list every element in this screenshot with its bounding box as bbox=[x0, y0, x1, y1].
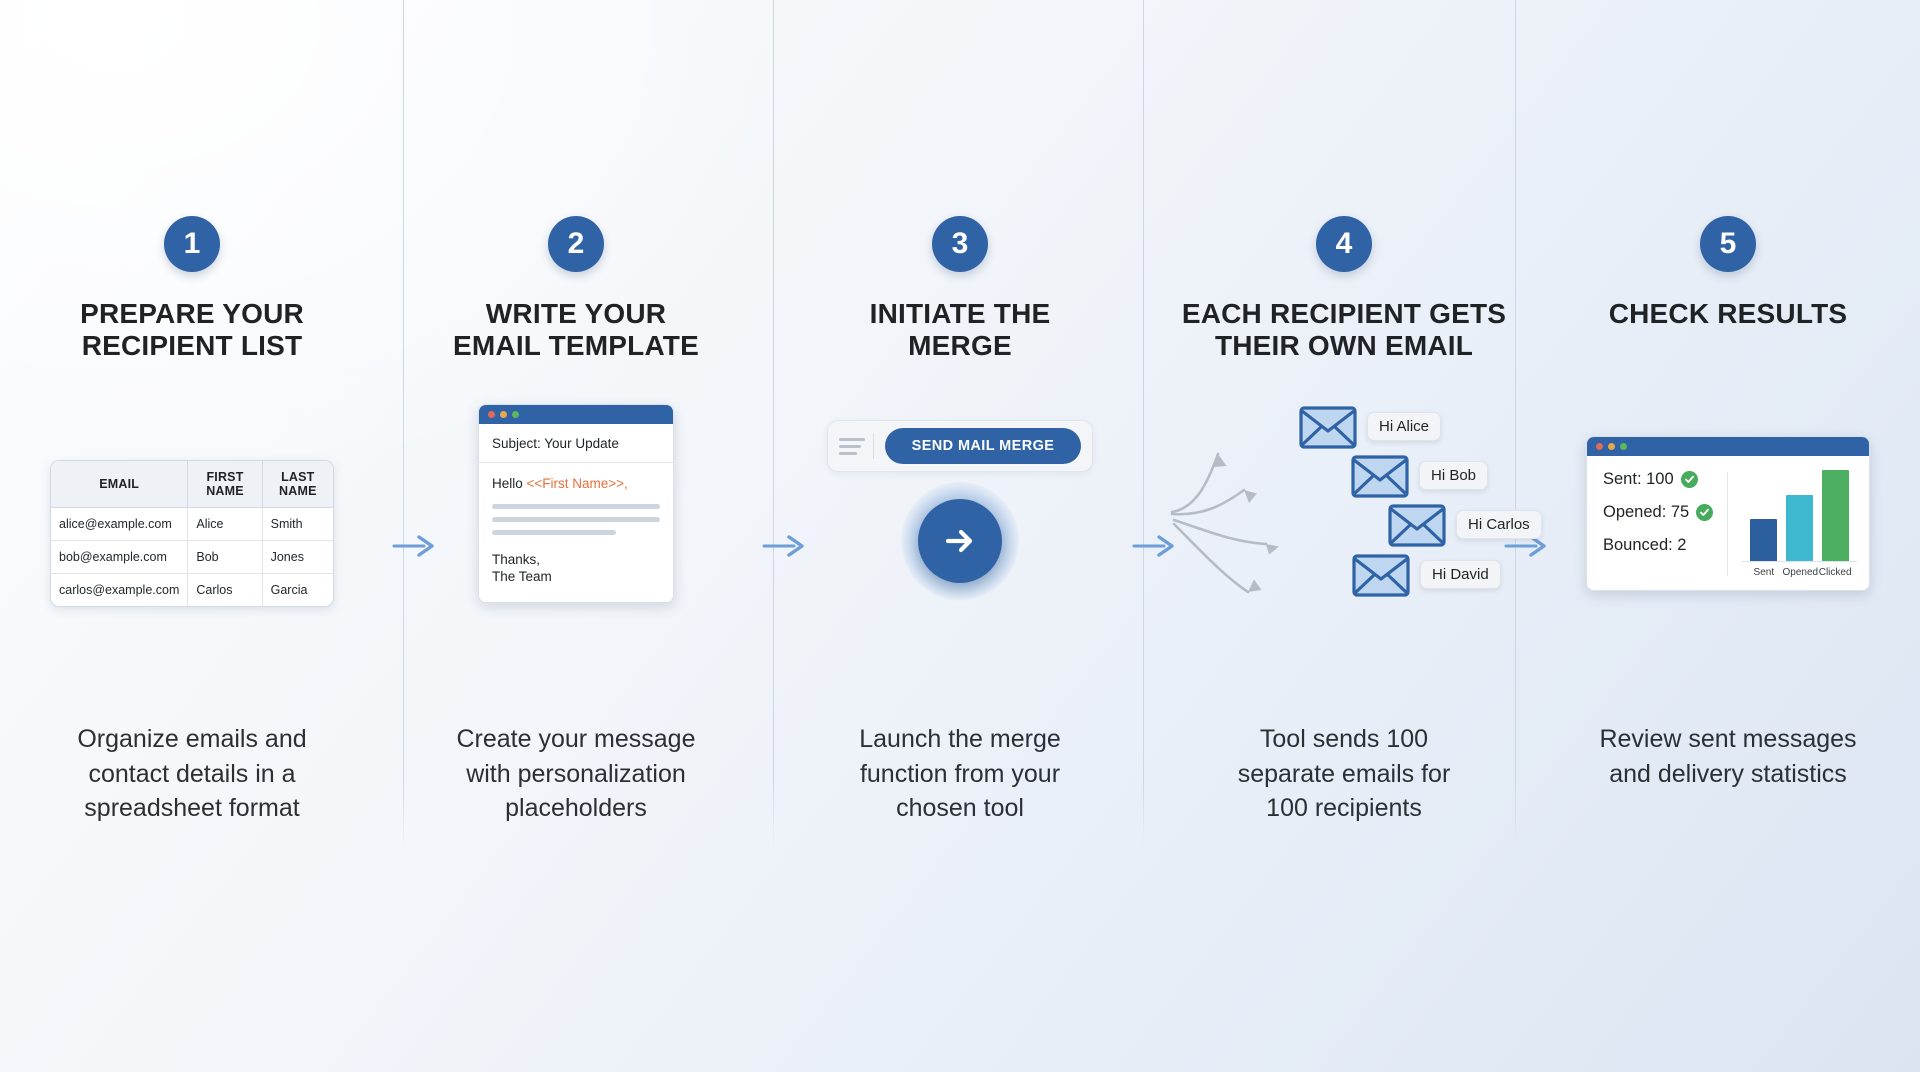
step-5-title-line-1: CHECK RESULTS bbox=[1536, 298, 1920, 330]
close-dot-icon[interactable] bbox=[488, 411, 495, 418]
cell-email: bob@example.com bbox=[51, 541, 188, 574]
stat-bounced-label: Bounced: 2 bbox=[1603, 536, 1686, 555]
step-5-illustration: Sent: 100 Opened: 75 Bounc bbox=[1536, 420, 1920, 670]
email-greeting: Hello <<First Name>>, bbox=[492, 476, 660, 491]
step-4-desc-line-3: 100 recipients bbox=[1152, 791, 1536, 826]
signature-line-2: The Team bbox=[492, 568, 660, 585]
list-icon[interactable] bbox=[839, 438, 867, 455]
recipient-bubble: Hi Bob bbox=[1419, 461, 1488, 490]
step-3-number-badge: 3 bbox=[932, 216, 988, 272]
step-2-write-email-template: 2 WRITE YOUR EMAIL TEMPLATE Subject: You… bbox=[384, 0, 768, 1072]
step-2-title: WRITE YOUR EMAIL TEMPLATE bbox=[384, 298, 768, 363]
maximize-dot-icon[interactable] bbox=[1620, 443, 1627, 450]
step-4-illustration: Hi Alice Hi Bob Hi Carlos bbox=[1152, 408, 1536, 598]
step-3-desc-line-1: Launch the merge bbox=[768, 722, 1152, 757]
chart-x-axis-labels: Sent Opened Clicked bbox=[1742, 562, 1857, 578]
step-2-desc-line-1: Create your message bbox=[384, 722, 768, 757]
email-template-window[interactable]: Subject: Your Update Hello <<First Name>… bbox=[478, 404, 674, 603]
step-3-desc-line-3: chosen tool bbox=[768, 791, 1152, 826]
email-body[interactable]: Hello <<First Name>>, Thanks, The Team bbox=[479, 463, 673, 602]
dashboard-body: Sent: 100 Opened: 75 Bounc bbox=[1587, 456, 1869, 590]
step-3-initiate-merge: 3 INITIATE THE MERGE SEND MAIL MERGE bbox=[768, 0, 1152, 1072]
step-5-number-badge: 5 bbox=[1700, 216, 1756, 272]
signature-line-1: Thanks, bbox=[492, 551, 660, 568]
stat-sent: Sent: 100 bbox=[1603, 470, 1727, 489]
toolbar-separator bbox=[873, 433, 874, 459]
table-row[interactable]: alice@example.com Alice Smith bbox=[51, 508, 333, 541]
cell-email: alice@example.com bbox=[51, 508, 188, 541]
step-5-check-results: 5 CHECK RESULTS Sent: 100 bbox=[1536, 0, 1920, 1072]
fanout-arrows bbox=[1162, 420, 1292, 600]
email-subject-line[interactable]: Subject: Your Update bbox=[479, 424, 673, 463]
step-5-title: CHECK RESULTS bbox=[1536, 298, 1920, 330]
cell-first-name: Alice bbox=[188, 508, 262, 541]
table-row[interactable]: bob@example.com Bob Jones bbox=[51, 541, 333, 574]
table-header-row: EMAIL FIRST NAME LAST NAME bbox=[51, 461, 333, 508]
recipient-bubble: Hi David bbox=[1420, 560, 1501, 589]
cell-last-name: Jones bbox=[262, 541, 333, 574]
fanout-area: Hi Alice Hi Bob Hi Carlos bbox=[1152, 408, 1536, 598]
chart-label-sent: Sent bbox=[1747, 567, 1781, 578]
chart-bars bbox=[1742, 470, 1857, 562]
step-1-desc-line-3: spreadsheet format bbox=[0, 791, 384, 826]
step-1-illustration: EMAIL FIRST NAME LAST NAME alice@example… bbox=[0, 420, 384, 670]
check-icon bbox=[1681, 471, 1698, 488]
cell-first-name: Bob bbox=[188, 541, 262, 574]
envelope-icon[interactable] bbox=[1299, 406, 1357, 449]
step-2-number-badge: 2 bbox=[548, 216, 604, 272]
merge-placeholder-token[interactable]: <<First Name>>, bbox=[527, 476, 628, 491]
step-1-description: Organize emails and contact details in a… bbox=[0, 722, 384, 826]
step-1-desc-line-1: Organize emails and bbox=[0, 722, 384, 757]
step-2-desc-line-2: with personalization bbox=[384, 757, 768, 792]
close-dot-icon[interactable] bbox=[1596, 443, 1603, 450]
stat-bounced: Bounced: 2 bbox=[1603, 536, 1727, 555]
cell-last-name: Garcia bbox=[262, 574, 333, 607]
step-1-title-line-2: RECIPIENT LIST bbox=[0, 330, 384, 362]
chart-label-clicked: Clicked bbox=[1818, 567, 1852, 578]
step-2-description: Create your message with personalization… bbox=[384, 722, 768, 826]
step-3-title-line-2: MERGE bbox=[768, 330, 1152, 362]
column-header-email: EMAIL bbox=[51, 461, 188, 508]
table-row[interactable]: carlos@example.com Carlos Garcia bbox=[51, 574, 333, 607]
delivery-stats-list: Sent: 100 Opened: 75 Bounc bbox=[1587, 470, 1727, 578]
window-titlebar bbox=[1587, 437, 1869, 456]
step-2-title-line-1: WRITE YOUR bbox=[384, 298, 768, 330]
bar-opened bbox=[1786, 495, 1813, 561]
step-3-desc-line-2: function from your bbox=[768, 757, 1152, 792]
column-header-last-name: LAST NAME bbox=[262, 461, 333, 508]
step-4-title-line-1: EACH RECIPIENT GETS bbox=[1152, 298, 1536, 330]
step-1-title-line-1: PREPARE YOUR bbox=[0, 298, 384, 330]
step-1-desc-line-2: contact details in a bbox=[0, 757, 384, 792]
step-1-number-badge: 1 bbox=[164, 216, 220, 272]
step-4-desc-line-1: Tool sends 100 bbox=[1152, 722, 1536, 757]
arrow-right-icon bbox=[938, 519, 982, 563]
recipient-spreadsheet[interactable]: EMAIL FIRST NAME LAST NAME alice@example… bbox=[50, 460, 334, 607]
column-header-first-name: FIRST NAME bbox=[188, 461, 262, 508]
window-titlebar bbox=[479, 405, 673, 424]
minimize-dot-icon[interactable] bbox=[1608, 443, 1615, 450]
bar-clicked bbox=[1822, 470, 1849, 561]
step-4-desc-line-2: separate emails for bbox=[1152, 757, 1536, 792]
step-3-title: INITIATE THE MERGE bbox=[768, 298, 1152, 363]
chart-label-opened: Opened bbox=[1782, 567, 1816, 578]
body-text-line bbox=[492, 517, 660, 522]
maximize-dot-icon[interactable] bbox=[512, 411, 519, 418]
recipient-bubble: Hi Carlos bbox=[1456, 510, 1542, 539]
step-3-title-line-1: INITIATE THE bbox=[768, 298, 1152, 330]
envelope-icon[interactable] bbox=[1351, 455, 1409, 498]
step-4-title-line-2: THEIR OWN EMAIL bbox=[1152, 330, 1536, 362]
body-text-line bbox=[492, 530, 616, 535]
envelope-icon[interactable] bbox=[1352, 554, 1410, 597]
check-icon bbox=[1696, 504, 1713, 521]
recipient-bubble: Hi Alice bbox=[1367, 412, 1441, 441]
merge-toolbar: SEND MAIL MERGE bbox=[827, 420, 1093, 472]
execute-merge-button[interactable] bbox=[918, 499, 1002, 583]
step-2-title-line-2: EMAIL TEMPLATE bbox=[384, 330, 768, 362]
bar-sent bbox=[1750, 519, 1777, 561]
step-3-illustration: SEND MAIL MERGE bbox=[768, 420, 1152, 670]
step-5-description: Review sent messages and delivery statis… bbox=[1536, 722, 1920, 791]
step-3-description: Launch the merge function from your chos… bbox=[768, 722, 1152, 826]
stat-opened: Opened: 75 bbox=[1603, 503, 1727, 522]
cell-last-name: Smith bbox=[262, 508, 333, 541]
step-1-prepare-recipient-list: 1 PREPARE YOUR RECIPIENT LIST EMAIL FIRS… bbox=[0, 0, 384, 1072]
results-dashboard-window[interactable]: Sent: 100 Opened: 75 Bounc bbox=[1586, 436, 1870, 591]
step-1-title: PREPARE YOUR RECIPIENT LIST bbox=[0, 298, 384, 363]
step-5-desc-line-2: and delivery statistics bbox=[1536, 757, 1920, 792]
step-2-desc-line-3: placeholders bbox=[384, 791, 768, 826]
steps-container: 1 PREPARE YOUR RECIPIENT LIST EMAIL FIRS… bbox=[0, 0, 1920, 1072]
step-5-desc-line-1: Review sent messages bbox=[1536, 722, 1920, 757]
stat-sent-label: Sent: 100 bbox=[1603, 470, 1674, 489]
cell-first-name: Carlos bbox=[188, 574, 262, 607]
step-4-description: Tool sends 100 separate emails for 100 r… bbox=[1152, 722, 1536, 826]
stat-opened-label: Opened: 75 bbox=[1603, 503, 1689, 522]
step-2-illustration: Subject: Your Update Hello <<First Name>… bbox=[384, 420, 768, 670]
minimize-dot-icon[interactable] bbox=[500, 411, 507, 418]
greeting-text: Hello bbox=[492, 476, 527, 491]
envelope-icon[interactable] bbox=[1388, 504, 1446, 547]
send-mail-merge-button[interactable]: SEND MAIL MERGE bbox=[885, 428, 1081, 464]
body-text-line bbox=[492, 504, 660, 509]
email-signature: Thanks, The Team bbox=[492, 551, 660, 586]
step-4-number-badge: 4 bbox=[1316, 216, 1372, 272]
cell-email: carlos@example.com bbox=[51, 574, 188, 607]
results-bar-chart: Sent Opened Clicked bbox=[1728, 470, 1869, 578]
step-4-title: EACH RECIPIENT GETS THEIR OWN EMAIL bbox=[1152, 298, 1536, 363]
merge-go-button-wrapper bbox=[895, 476, 1025, 606]
step-4-each-recipient-gets-own-email: 4 EACH RECIPIENT GETS THEIR OWN EMAIL bbox=[1152, 0, 1536, 1072]
